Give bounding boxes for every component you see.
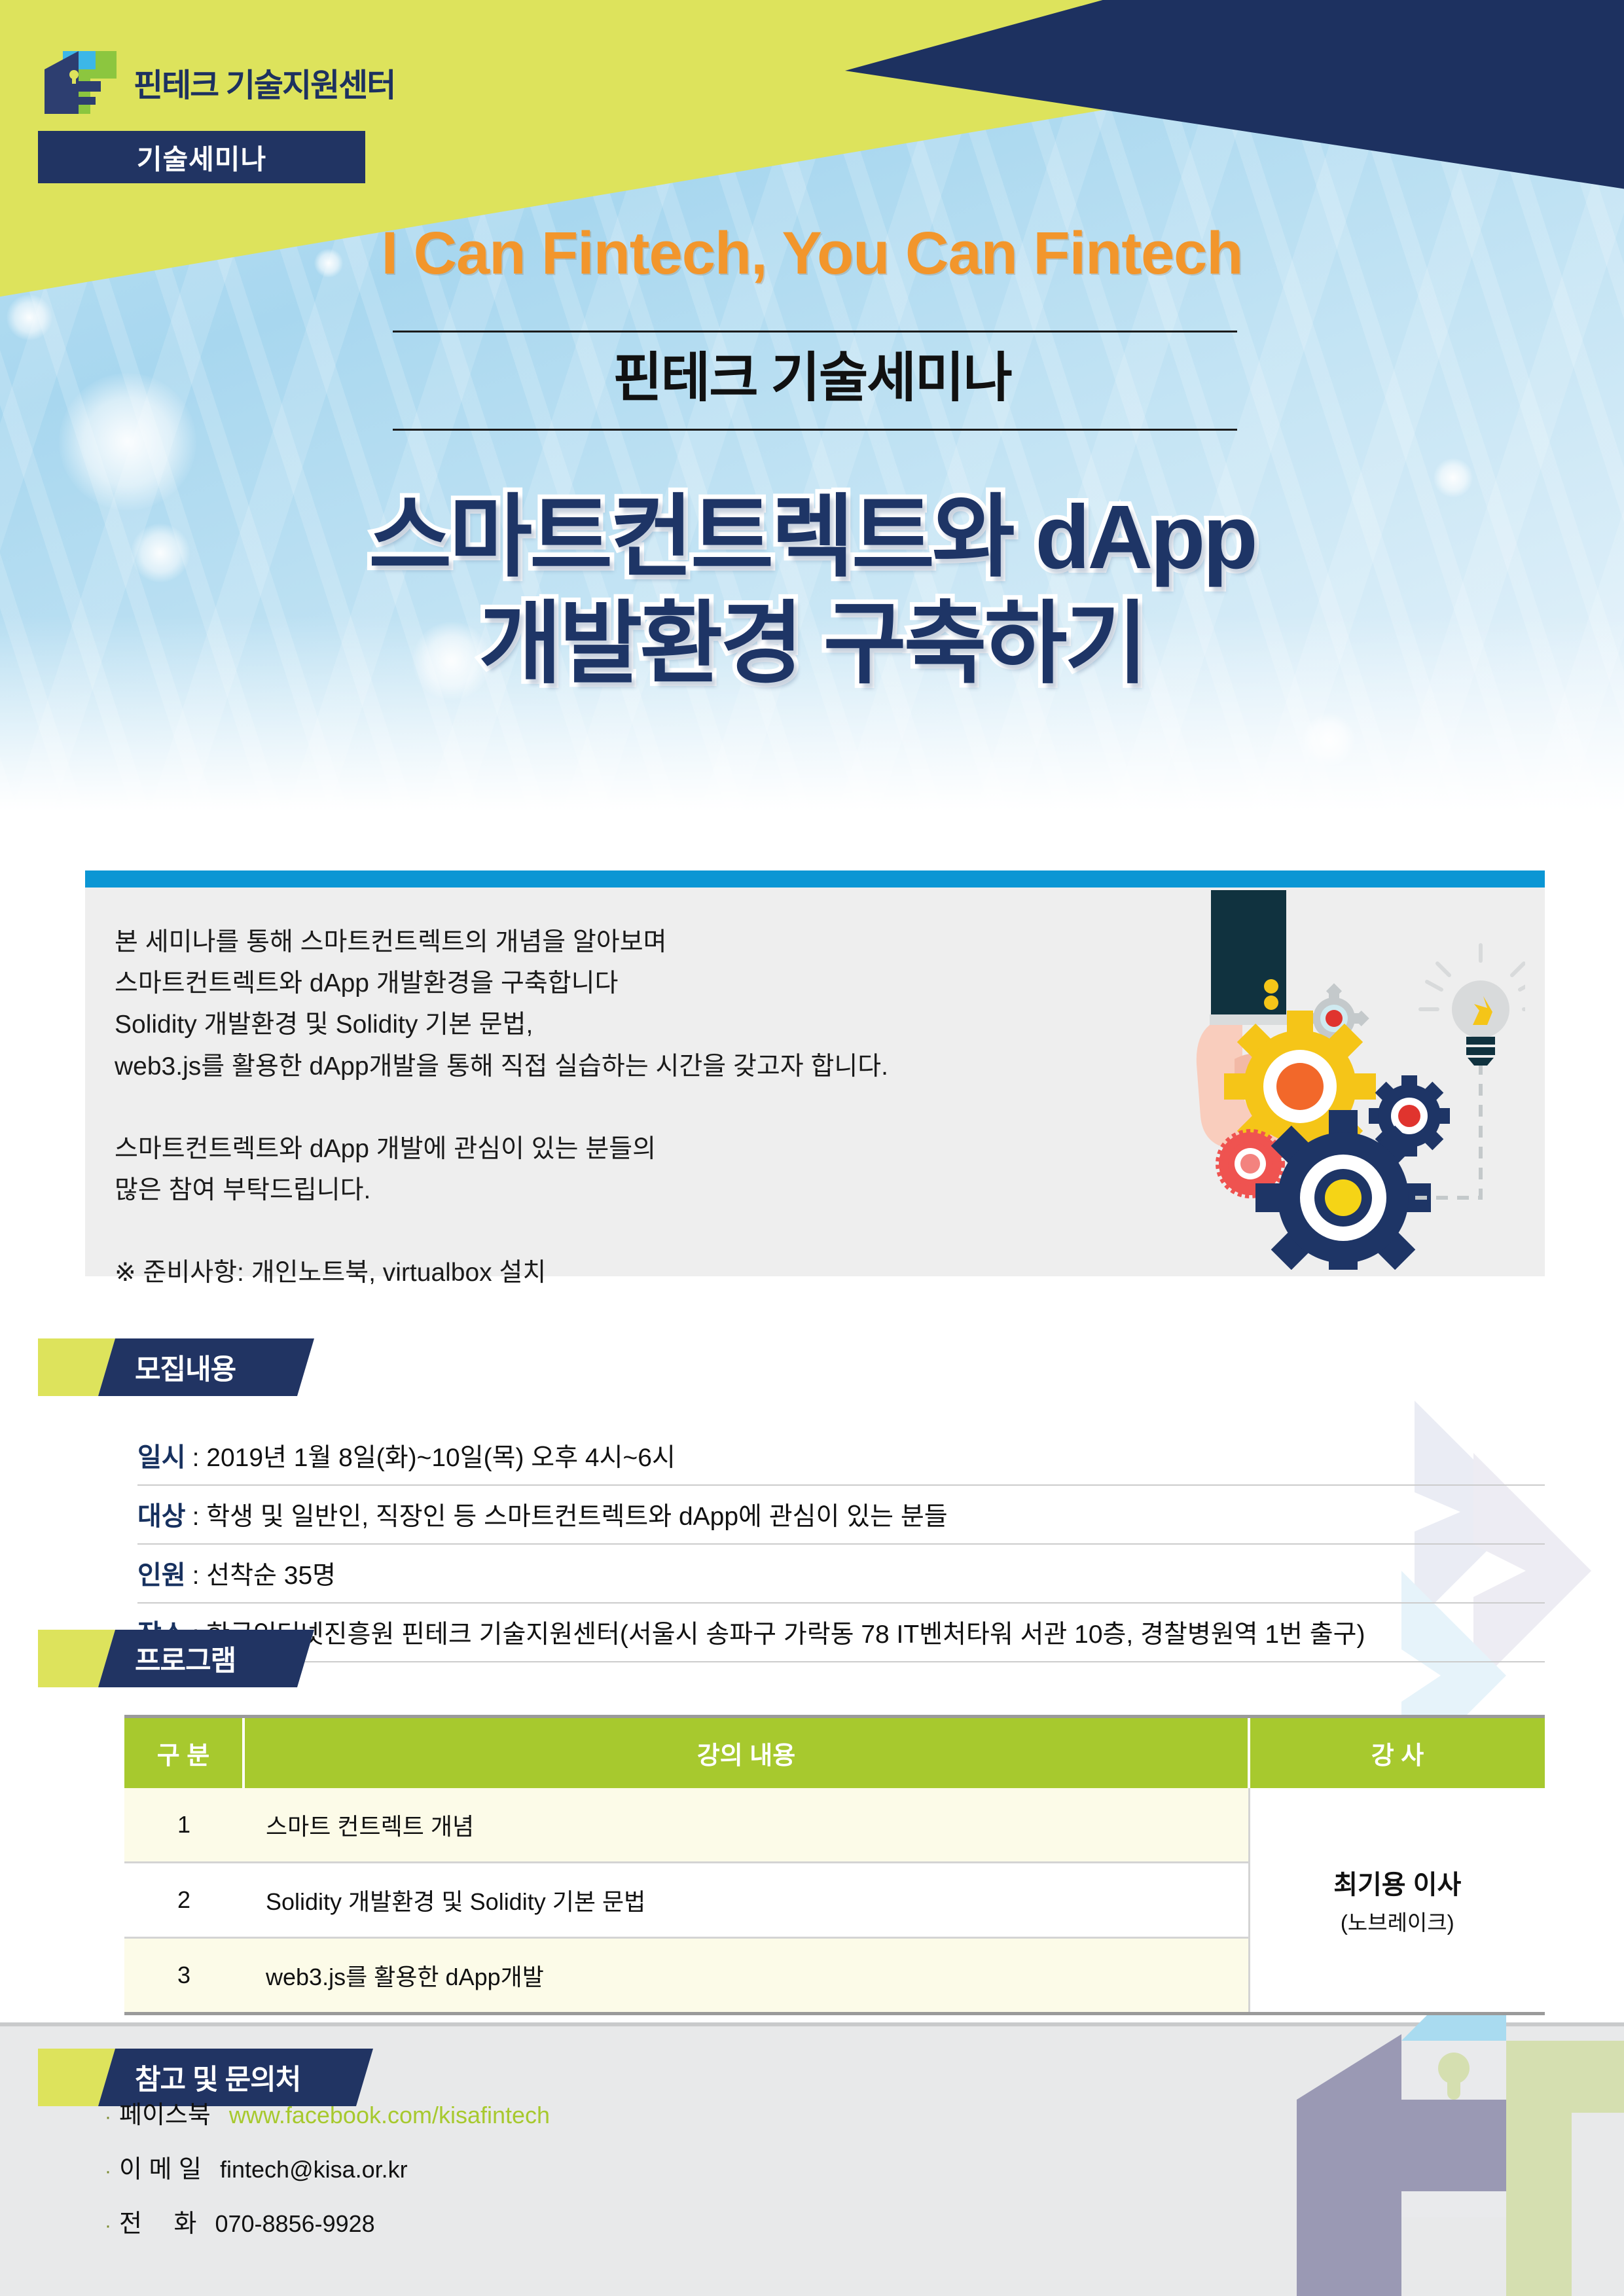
info-key: 일시 [137, 1436, 186, 1474]
table-row: 1 스마트 컨트렉트 개념 최기용 이사 (노브레이크) [124, 1788, 1545, 1863]
info-key: 대상 [137, 1495, 186, 1533]
hero-tagline: I Can Fintech, You Can Fintech [0, 219, 1624, 288]
info-key: 인원 [137, 1554, 186, 1592]
cell-lecturer: 최기용 이사 (노브레이크) [1249, 1788, 1545, 2014]
table-header-row: 구 분 강의 내용 강 사 [124, 1717, 1545, 1789]
info-row: 인원 : 선착순 35명 [137, 1545, 1545, 1604]
cell-no: 1 [124, 1788, 244, 1863]
footer-logo-watermark-icon [1205, 1995, 1624, 2296]
divider-bottom [393, 429, 1237, 431]
bullet-icon: · [105, 2162, 111, 2181]
info-value: : 선착순 35명 [192, 1555, 336, 1592]
column-header-topic: 강의 내용 [244, 1717, 1249, 1789]
contact-list: · 페이스북 www.facebook.com/kisafintech · 이 … [105, 2094, 550, 2257]
recruit-info-list: 일시 : 2019년 1월 8일(화)~10일(목) 오후 4시~6시 대상 :… [137, 1427, 1545, 1662]
main-title-line-1: 스마트컨트렉트와 dApp [0, 484, 1624, 591]
divider-top [393, 331, 1237, 332]
column-header-no: 구 분 [124, 1717, 244, 1789]
main-title-line-2: 개발환경 구축하기 [0, 591, 1624, 698]
contact-row-phone[interactable]: · 전 화 070-8856-9928 [105, 2203, 550, 2239]
contact-value-phone[interactable]: 070-8856-9928 [215, 2210, 374, 2238]
bullet-icon: · [105, 2216, 111, 2236]
description-panel: 본 세미나를 통해 스마트컨트렉트의 개념을 알아보며 스마트컨트렉트와 dAp… [85, 870, 1545, 1276]
contact-value-email[interactable]: fintech@kisa.or.kr [220, 2156, 408, 2183]
section-heading-program: 프로그램 [38, 1630, 314, 1687]
cell-topic: web3.js를 활용한 dApp개발 [244, 1938, 1249, 2014]
info-row: 대상 : 학생 및 일반인, 직장인 등 스마트컨트렉트와 dApp에 관심이 … [137, 1486, 1545, 1545]
contact-label: 페이스북 [119, 2094, 211, 2130]
section-heading-program-label: 프로그램 [98, 1638, 236, 1679]
description-text: 본 세미나를 통해 스마트컨트렉트의 개념을 알아보며 스마트컨트렉트와 dAp… [115, 922, 1162, 1294]
fintech-ft-monogram-icon [39, 46, 119, 119]
poster-canvas: 핀테크 기술지원센터 기술세미나 I Can Fintech, You Can … [0, 0, 1624, 2296]
cell-no: 2 [124, 1863, 244, 1938]
cell-no: 3 [124, 1938, 244, 2014]
heading-plate-navy: 프로그램 [98, 1630, 314, 1687]
hero-subtitle: 핀테크 기술세미나 [0, 334, 1624, 412]
contact-label: 전 화 [119, 2203, 196, 2239]
brand-logo-text: 핀테크 기술지원센터 [134, 60, 395, 106]
info-value: : 학생 및 일반인, 직장인 등 스마트컨트렉트와 dApp에 관심이 있는 … [192, 1496, 948, 1533]
cell-topic: 스마트 컨트렉트 개념 [244, 1788, 1249, 1863]
cell-topic: Solidity 개발환경 및 Solidity 기본 문법 [244, 1863, 1249, 1938]
info-row: 일시 : 2019년 1월 8일(화)~10일(목) 오후 4시~6시 [137, 1427, 1545, 1486]
contact-label: 이 메 일 [119, 2149, 202, 2185]
poster-main-title: 스마트컨트렉트와 dApp 개발환경 구축하기 [0, 484, 1624, 698]
contact-row-email[interactable]: · 이 메 일 fintech@kisa.or.kr [105, 2149, 550, 2185]
seminar-type-badge-label: 기술세미나 [137, 137, 266, 177]
info-value: : 2019년 1월 8일(화)~10일(목) 오후 4시~6시 [192, 1437, 676, 1474]
column-header-lecturer: 강 사 [1249, 1717, 1545, 1789]
lecturer-name: 최기용 이사 [1250, 1863, 1545, 1901]
program-table: 구 분 강의 내용 강 사 1 스마트 컨트렉트 개념 최기용 이사 (노브레이… [124, 1715, 1545, 2015]
seminar-type-badge: 기술세미나 [38, 131, 365, 183]
description-accent-bar [85, 870, 1545, 888]
section-heading-recruit-label: 모집내용 [98, 1347, 236, 1388]
section-heading-contact-label: 참고 및 문의처 [98, 2057, 300, 2098]
lecturer-org: (노브레이크) [1250, 1905, 1545, 1937]
gears-lightbulb-illustration-icon [1172, 890, 1525, 1270]
bullet-icon: · [105, 2108, 111, 2127]
section-heading-recruit: 모집내용 [38, 1338, 314, 1396]
brand-logo: 핀테크 기술지원센터 [39, 46, 395, 119]
heading-plate-navy: 모집내용 [98, 1338, 314, 1396]
info-value: : 한국인터넷진흥원 핀테크 기술지원센터(서울시 송파구 가락동 78 IT벤… [192, 1614, 1365, 1651]
contact-row-facebook[interactable]: · 페이스북 www.facebook.com/kisafintech [105, 2094, 550, 2130]
info-row: 장소 : 한국인터넷진흥원 핀테크 기술지원센터(서울시 송파구 가락동 78 … [137, 1604, 1545, 1662]
contact-value-facebook[interactable]: www.facebook.com/kisafintech [229, 2102, 550, 2129]
